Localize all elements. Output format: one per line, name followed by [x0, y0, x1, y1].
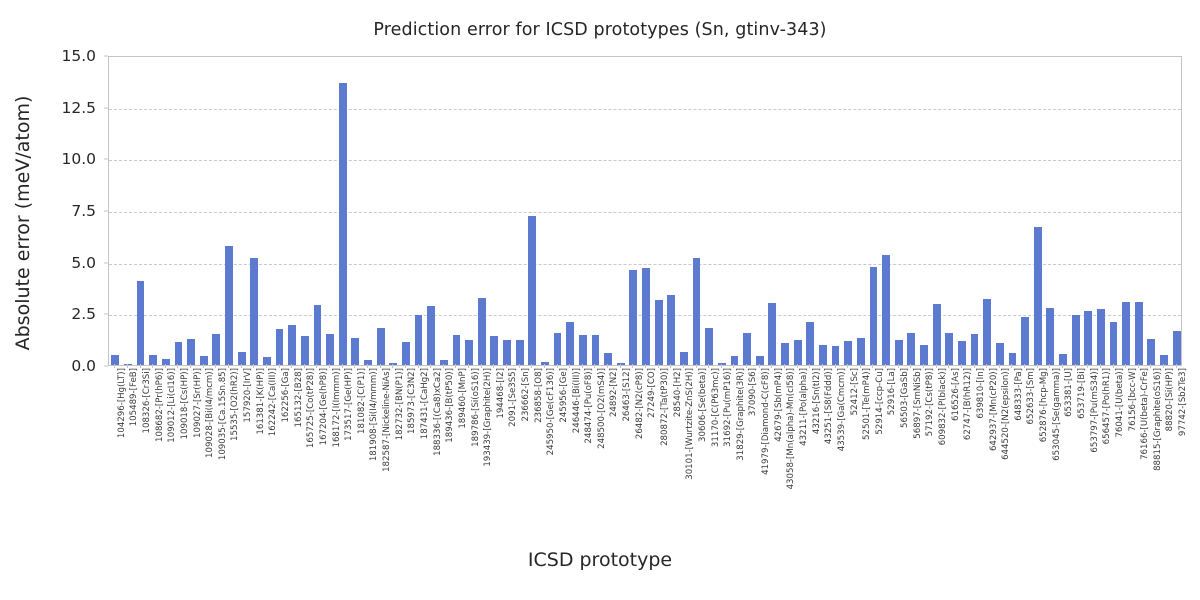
x-tick-label: 653797-[Pu(mS34)]: [1091, 368, 1100, 453]
x-tick-mark: [999, 364, 1000, 368]
y-tick-label: 2.5: [71, 305, 96, 323]
bar: [225, 246, 233, 365]
x-tick-mark: [140, 364, 141, 368]
bar: [819, 345, 827, 365]
x-tick-mark: [1011, 364, 1012, 368]
x-tick-label: 37090-[S6]: [749, 368, 758, 416]
x-tick-label: 189786-[Si(oS16)]: [472, 368, 481, 447]
x-tick-label: 193439-[Graphite(2H)]: [484, 368, 493, 467]
x-tick-label: 644520-[N2(epsilon)]: [1002, 368, 1011, 460]
bar: [200, 356, 208, 365]
bar: [1046, 308, 1054, 365]
x-tick-label: 165725-[Co(tP28)]: [307, 368, 316, 448]
x-tick-mark: [645, 364, 646, 368]
bar: [945, 333, 953, 365]
x-tick-label: 245956-[Ge]: [560, 368, 569, 423]
bar: [882, 255, 890, 365]
chart-title: Prediction error for ICSD prototypes (Sn…: [0, 20, 1200, 40]
x-tick-label: 642937-[Mn(cP20)]: [990, 368, 999, 451]
x-tick-label: 43539-[Ga(Cmcm)]: [838, 368, 847, 451]
bar: [933, 304, 941, 365]
x-tick-label: 187431-[CaHg2]: [421, 368, 430, 439]
x-tick-mark: [152, 364, 153, 368]
bar: [554, 333, 562, 365]
x-tick-label: 88815-[Graphite(oS16)]: [1154, 368, 1163, 471]
x-tick-label: 109018-[Cs(HP)]: [181, 368, 190, 439]
y-tick-label: 10.0: [61, 150, 96, 168]
bar: [314, 305, 322, 365]
bar: [629, 270, 637, 365]
x-tick-mark: [746, 364, 747, 368]
x-tick-label: 167204-[Ge(hP8)]: [320, 368, 329, 445]
x-tick-mark: [670, 364, 671, 368]
x-tick-mark: [127, 364, 128, 368]
x-tick-label: 109027-[Sr(HP)]: [194, 368, 203, 438]
x-tick-mark: [658, 364, 659, 368]
bar: [1097, 309, 1105, 365]
x-tick-label: 162256-[Ga]: [282, 368, 291, 423]
x-tick-mark: [241, 364, 242, 368]
x-tick-mark: [771, 364, 772, 368]
x-tick-mark: [228, 364, 229, 368]
x-tick-mark: [418, 364, 419, 368]
x-tick-label: 56897-[SmNiSb]: [914, 368, 923, 439]
bar: [162, 359, 170, 365]
x-tick-label: 43211-[Po(alpha)]: [800, 368, 809, 446]
x-tick-label: 109028-[Bi(I4/mcm)]: [206, 368, 215, 458]
x-tick-mark: [279, 364, 280, 368]
bar: [1110, 322, 1118, 365]
x-tick-label: 109035-[Ca.15Sn.85]: [219, 368, 228, 460]
x-tick-label: 15535-[O2(hR2)]: [231, 368, 240, 441]
x-tick-mark: [885, 364, 886, 368]
x-axis-label: ICSD prototype: [0, 549, 1200, 571]
x-tick-mark: [1087, 364, 1088, 368]
x-tick-label: 24892-[N2]: [610, 368, 619, 417]
x-tick-mark: [1150, 364, 1151, 368]
bar: [983, 299, 991, 365]
x-tick-label: 43058-[Mn(alpha)-Mn(cI58)]: [787, 368, 796, 489]
bar: [339, 83, 347, 365]
bar: [465, 340, 473, 365]
x-tick-mark: [961, 364, 962, 368]
x-tick-label: 248474-[Pu(oF8)]: [585, 368, 594, 443]
x-tick-label: 52914-[ccp-Cu]: [876, 368, 885, 435]
bar: [781, 343, 789, 365]
x-tick-mark: [632, 364, 633, 368]
bar: [718, 363, 726, 365]
x-tick-mark: [1125, 364, 1126, 368]
x-tick-mark: [910, 364, 911, 368]
x-tick-label: 280872-[Ta(tP30)]: [661, 368, 670, 446]
x-tick-mark: [266, 364, 267, 368]
y-tick-label: 0.0: [71, 357, 96, 375]
x-tick-mark: [797, 364, 798, 368]
x-tick-mark: [203, 364, 204, 368]
x-tick-mark: [165, 364, 166, 368]
x-tick-label: 173517-[Ge(HP)]: [345, 368, 354, 441]
bar: [1034, 227, 1042, 365]
x-tick-label: 181908-[Si(I4/mmm)]: [370, 368, 379, 461]
bar: [187, 339, 195, 365]
bar: [402, 342, 410, 365]
bar: [768, 303, 776, 365]
x-tick-label: 109012-[Li(cI16)]: [168, 368, 177, 443]
x-tick-mark: [1163, 364, 1164, 368]
x-tick-label: 653719-[Bi]: [1078, 368, 1087, 419]
bar: [528, 216, 536, 365]
x-tick-mark: [190, 364, 191, 368]
x-tick-label: 246446-[Bi(III)]: [573, 368, 582, 433]
bar: [377, 328, 385, 365]
x-tick-mark: [708, 364, 709, 368]
bar: [250, 258, 258, 365]
bar: [832, 346, 840, 365]
x-tick-label: 43216-[Sn(tI2)]: [813, 368, 822, 434]
x-axis-ticks: 104296-[Hg(LT)]105489-[FeB]108326-[Cr3Si…: [108, 368, 1182, 548]
x-tick-mark: [1062, 364, 1063, 368]
bar: [743, 333, 751, 365]
x-tick-mark: [582, 364, 583, 368]
bar: [680, 352, 688, 365]
x-tick-label: 26463-[S12]: [623, 368, 632, 422]
bar: [667, 295, 675, 365]
x-tick-label: 236662-[Sn]: [522, 368, 531, 422]
x-tick-label: 245950-[Ge(cF136)]: [547, 368, 556, 455]
bar: [453, 335, 461, 365]
x-tick-mark: [544, 364, 545, 368]
x-tick-label: 30101-[Wurtzite-ZnS(2H)]: [686, 368, 695, 480]
bar: [920, 345, 928, 365]
bar: [579, 335, 587, 365]
y-tick-label: 12.5: [61, 99, 96, 117]
x-tick-mark: [455, 364, 456, 368]
bar: [301, 336, 309, 365]
x-tick-mark: [847, 364, 848, 368]
x-tick-mark: [367, 364, 368, 368]
bar: [655, 300, 663, 365]
x-tick-label: 162242-[Ca(III)]: [269, 368, 278, 436]
bar: [693, 258, 701, 365]
bar: [1147, 339, 1155, 365]
bar: [288, 325, 296, 365]
x-tick-mark: [936, 364, 937, 368]
bar: [844, 341, 852, 365]
bar: [175, 342, 183, 365]
x-tick-label: 182732-[BN(P1)]: [396, 368, 405, 440]
bar: [857, 338, 865, 365]
x-tick-label: 609832-[P(black)]: [939, 368, 948, 445]
x-tick-mark: [380, 364, 381, 368]
x-tick-mark: [493, 364, 494, 368]
bar: [326, 334, 334, 365]
x-tick-mark: [1049, 364, 1050, 368]
x-tick-mark: [1100, 364, 1101, 368]
x-tick-mark: [1037, 364, 1038, 368]
bar-series: [109, 57, 1181, 365]
bar: [1072, 315, 1080, 365]
x-tick-mark: [733, 364, 734, 368]
x-tick-mark: [114, 364, 115, 368]
x-tick-mark: [468, 364, 469, 368]
bar: [1059, 354, 1067, 365]
bar: [705, 328, 713, 365]
x-tick-mark: [948, 364, 949, 368]
bar: [895, 340, 903, 365]
x-tick-label: 104296-[Hg(LT)]: [118, 368, 127, 438]
x-tick-mark: [329, 364, 330, 368]
x-tick-mark: [923, 364, 924, 368]
bar: [427, 306, 435, 365]
bar: [566, 322, 574, 365]
x-tick-label: 105489-[FeB]: [130, 368, 139, 426]
x-tick-mark: [531, 364, 532, 368]
bar: [1135, 302, 1143, 365]
plot-area: [108, 56, 1182, 366]
x-tick-label: 52412-[Sc]: [851, 368, 860, 415]
x-tick-label: 76041-[U(beta)]: [1116, 368, 1125, 438]
x-tick-label: 639810-[In]: [977, 368, 986, 419]
bar: [642, 268, 650, 365]
bar: [870, 267, 878, 365]
x-tick-label: 648333-[Pa]: [1015, 368, 1024, 421]
x-tick-label: 157920-[IrV]: [244, 368, 253, 423]
bar: [276, 329, 284, 365]
x-tick-mark: [519, 364, 520, 368]
x-tick-mark: [860, 364, 861, 368]
x-tick-mark: [607, 364, 608, 368]
bar: [996, 343, 1004, 365]
x-tick-label: 97742-[Sb2Te3]: [1179, 368, 1188, 436]
x-tick-mark: [898, 364, 899, 368]
x-tick-label: 31170-[C(P63mc)]: [712, 368, 721, 447]
y-axis-ticks: 0.02.55.07.510.012.515.0: [0, 56, 108, 366]
x-tick-mark: [620, 364, 621, 368]
x-tick-label: 656457-[Po(hR1)]: [1103, 368, 1112, 444]
x-tick-mark: [721, 364, 722, 368]
x-tick-label: 42679-[Sb(mP4)]: [775, 368, 784, 442]
x-tick-mark: [215, 364, 216, 368]
x-tick-mark: [443, 364, 444, 368]
bar: [238, 352, 246, 365]
x-tick-label: 43251-[S8(Fddd)]: [825, 368, 834, 444]
bar-chart-figure: Prediction error for ICSD prototypes (Sn…: [0, 0, 1200, 600]
x-tick-mark: [696, 364, 697, 368]
x-tick-mark: [809, 364, 810, 368]
x-tick-mark: [405, 364, 406, 368]
x-tick-label: 185973-[C3N2]: [408, 368, 417, 434]
x-tick-mark: [1138, 364, 1139, 368]
bar: [516, 340, 524, 365]
x-tick-mark: [481, 364, 482, 368]
x-tick-mark: [759, 364, 760, 368]
x-tick-label: 41979-[Diamond-C(cF8)]: [762, 368, 771, 475]
x-tick-label: 165132-[B28]: [295, 368, 304, 427]
x-tick-label: 653045-[Se(gamma)]: [1053, 368, 1062, 461]
x-tick-mark: [354, 364, 355, 368]
x-tick-label: 52501-[Te(mP4)]: [863, 368, 872, 440]
x-tick-mark: [683, 364, 684, 368]
x-tick-label: 161381-[K(HP)]: [257, 368, 266, 435]
x-tick-label: 616526-[As]: [952, 368, 961, 421]
x-tick-label: 189436-[B(tP50)]: [446, 368, 455, 443]
bar: [541, 362, 549, 365]
x-tick-mark: [342, 364, 343, 368]
x-tick-mark: [392, 364, 393, 368]
x-tick-mark: [822, 364, 823, 368]
x-tick-mark: [1113, 364, 1114, 368]
x-tick-label: 31829-[Graphite(3R)]: [737, 368, 746, 461]
bar: [389, 363, 397, 365]
x-tick-label: 194468-[I2]: [497, 368, 506, 419]
bar: [806, 322, 814, 365]
x-tick-label: 57192-[Cs(tP8)]: [926, 368, 935, 436]
x-tick-mark: [569, 364, 570, 368]
x-tick-label: 652633-[Sm]: [1027, 368, 1036, 424]
bar: [351, 338, 359, 365]
bar: [1173, 331, 1181, 365]
x-tick-label: 2091-[Se3S5]: [509, 368, 518, 427]
x-tick-label: 30606-[Se(beta)]: [699, 368, 708, 442]
x-tick-mark: [253, 364, 254, 368]
x-tick-label: 108682-[Pr(hP6)]: [156, 368, 165, 442]
x-tick-label: 27249-[CO]: [648, 368, 657, 418]
x-tick-mark: [557, 364, 558, 368]
x-tick-mark: [506, 364, 507, 368]
x-tick-label: 56503-[GaSb]: [901, 368, 910, 428]
x-tick-label: 28540-[H2]: [674, 368, 683, 417]
bar: [478, 298, 486, 365]
bar: [137, 281, 145, 365]
x-tick-mark: [430, 364, 431, 368]
x-tick-mark: [986, 364, 987, 368]
x-tick-label: 108326-[Cr3Si]: [143, 368, 152, 433]
x-tick-mark: [872, 364, 873, 368]
x-tick-mark: [974, 364, 975, 368]
x-tick-mark: [316, 364, 317, 368]
bar: [124, 364, 132, 365]
x-tick-label: 189460-[MnP]: [459, 368, 468, 429]
y-tick-label: 7.5: [71, 202, 96, 220]
bar: [958, 341, 966, 365]
x-tick-label: 181082-[C(P1)]: [358, 368, 367, 434]
bar: [794, 340, 802, 365]
bar: [212, 334, 220, 365]
x-tick-mark: [1024, 364, 1025, 368]
bar: [592, 335, 600, 365]
bar: [907, 333, 915, 365]
x-tick-label: 88820-[Si(HP)]: [1166, 368, 1175, 431]
x-tick-label: 76156-[bcc-W]: [1129, 368, 1138, 431]
x-tick-label: 76166-[U(beta)-CrFe]: [1141, 368, 1150, 460]
x-tick-label: 653381-[U]: [1065, 368, 1074, 417]
bar: [971, 334, 979, 365]
bar: [490, 336, 498, 365]
x-tick-mark: [594, 364, 595, 368]
x-tick-mark: [291, 364, 292, 368]
bar: [503, 340, 511, 365]
x-tick-label: 62747-[B(hR12)]: [964, 368, 973, 440]
bar: [1122, 302, 1130, 365]
x-tick-mark: [304, 364, 305, 368]
bar: [1084, 311, 1092, 365]
x-tick-label: 52916-[La]: [888, 368, 897, 415]
x-tick-mark: [1075, 364, 1076, 368]
x-tick-mark: [835, 364, 836, 368]
x-tick-label: 248500-[O2(mS4)]: [598, 368, 607, 449]
x-tick-label: 188336-[(Ca8)xCa2]: [434, 368, 443, 456]
x-tick-mark: [784, 364, 785, 368]
x-tick-label: 652876-[hcp-Mg]: [1040, 368, 1049, 442]
x-tick-label: 236858-[O8]: [535, 368, 544, 423]
x-tick-mark: [177, 364, 178, 368]
y-tick-label: 15.0: [61, 47, 96, 65]
x-tick-label: 168172-[I(Immm)]: [333, 368, 342, 448]
bar: [1021, 317, 1029, 365]
y-tick-label: 5.0: [71, 254, 96, 272]
bar: [415, 315, 423, 365]
x-tick-label: 31692-[Pu(mP16)]: [724, 368, 733, 447]
x-tick-label: 182587-[Nickeline-NiAs]: [383, 368, 392, 472]
x-tick-label: 26482-[N2(cP8)]: [636, 368, 645, 439]
bar: [756, 356, 764, 365]
x-tick-mark: [1176, 364, 1177, 368]
